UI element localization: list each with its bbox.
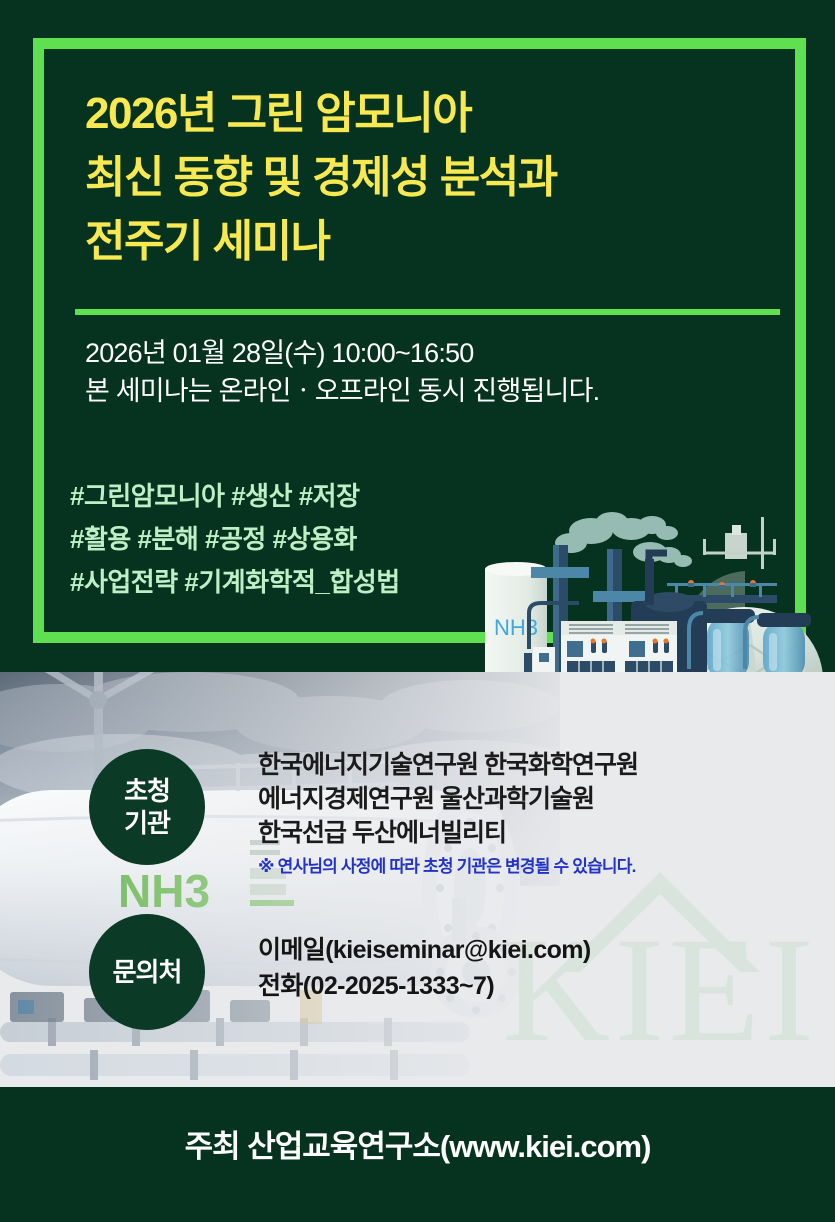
contact-block: 이메일(kieiseminar@kiei.com) 전화(02-2025-133… (258, 932, 818, 1004)
contact-badge-label: 문의처 (113, 956, 182, 988)
invited-organizations-badge: 초청 기관 (89, 749, 205, 865)
schedule-block: 2026년 01월 28일(수) 10:00~16:50 본 세미나는 온라인ㆍ… (85, 334, 785, 410)
footer: 주최 산업교육연구소(www.kiei.com) (0, 1087, 835, 1222)
nh3-illustration-label: NH3 (494, 615, 538, 640)
contact-badge: 문의처 (89, 914, 205, 1030)
invited-badge-line-2: 기관 (124, 807, 170, 839)
title-line-3: 전주기 세미나 (85, 210, 785, 274)
top-panel: 2026년 그린 암모니아 최신 동향 및 경제성 분석과 전주기 세미나 20… (0, 0, 835, 675)
title-divider (75, 309, 780, 315)
seminar-poster: 2026년 그린 암모니아 최신 동향 및 경제성 분석과 전주기 세미나 20… (0, 0, 835, 1222)
smoke-plume (555, 512, 692, 567)
invited-badge-line-1: 초청 (124, 775, 170, 807)
invited-organizations-block: 한국에너지기술연구원 한국화학연구원 에너지경제연구원 울산과학기술원 한국선급… (258, 748, 818, 880)
seminar-datetime: 2026년 01월 28일(수) 10:00~16:50 (85, 334, 785, 372)
org-line-2: 에너지경제연구원 울산과학기술원 (258, 782, 818, 816)
seminar-notice: 본 세미나는 온라인ㆍ오프라인 동시 진행됩니다. (85, 372, 785, 410)
title-line-2: 최신 동향 및 경제성 분석과 (85, 146, 785, 210)
title-line-1: 2026년 그린 암모니아 (85, 82, 785, 146)
machinery-cabinets (561, 621, 677, 675)
footer-host-text[interactable]: 주최 산업교육연구소(www.kiei.com) (0, 1121, 835, 1166)
page-title: 2026년 그린 암모니아 최신 동향 및 경제성 분석과 전주기 세미나 (85, 82, 785, 274)
org-line-3: 한국선급 두산에너빌리티 (258, 816, 818, 850)
contact-phone[interactable]: 전화(02-2025-1333~7) (258, 968, 818, 1004)
contact-email[interactable]: 이메일(kieiseminar@kiei.com) (258, 932, 818, 968)
ammonia-plant-illustration: NH3 (445, 495, 835, 675)
org-line-1: 한국에너지기술연구원 한국화학연구원 (258, 748, 818, 782)
invited-organizations-note: ※ 연사님의 사정에 따라 초청 기관은 변경될 수 있습니다. (258, 854, 818, 880)
